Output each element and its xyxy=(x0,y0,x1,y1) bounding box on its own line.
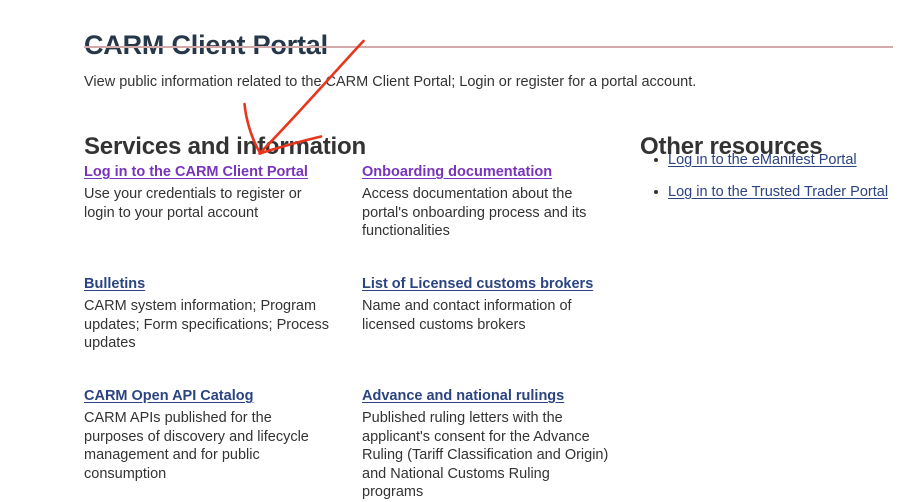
service-item-log-in-to-the-carm-client-portal: Log in to the CARM Client Portal Use you… xyxy=(84,163,334,222)
service-item-bulletins: Bulletins CARM system information; Progr… xyxy=(84,275,334,353)
other-resources-list: Log in to the eManifest Portal Log in to… xyxy=(640,150,890,214)
page-root: CARM Client Portal View public informati… xyxy=(0,0,900,486)
service-link-bulletins[interactable]: Bulletins xyxy=(84,276,145,292)
bullet-icon xyxy=(654,158,658,162)
service-link-onboarding-documentation[interactable]: Onboarding documentation xyxy=(362,164,552,180)
service-desc-list-of-licensed-customs-brokers: Name and contact information of licensed… xyxy=(362,297,612,334)
list-item: Log in to the eManifest Portal xyxy=(640,150,890,170)
services-row: Bulletins CARM system information; Progr… xyxy=(84,275,614,387)
service-item-list-of-licensed-customs-brokers: List of Licensed customs brokers Name an… xyxy=(362,275,612,334)
list-item: Log in to the Trusted Trader Portal xyxy=(640,182,890,202)
service-desc-bulletins: CARM system information; Program updates… xyxy=(84,297,334,353)
service-item-advance-and-national-rulings: Advance and national rulings Published r… xyxy=(362,387,612,502)
service-desc-log-in-to-the-carm-client-portal: Use your credentials to register or logi… xyxy=(84,185,334,222)
page-intro-text: View public information related to the C… xyxy=(84,72,874,92)
service-desc-advance-and-national-rulings: Published ruling letters with the applic… xyxy=(362,409,612,502)
service-link-carm-open-api-catalog[interactable]: CARM Open API Catalog xyxy=(84,388,253,404)
service-item-onboarding-documentation: Onboarding documentation Access document… xyxy=(362,163,612,241)
service-item-carm-open-api-catalog: CARM Open API Catalog CARM APIs publishe… xyxy=(84,387,334,483)
service-link-advance-and-national-rulings[interactable]: Advance and national rulings xyxy=(362,388,564,404)
service-link-log-in-to-the-carm-client-portal[interactable]: Log in to the CARM Client Portal xyxy=(84,164,308,180)
other-resource-link-emanifest-portal[interactable]: Log in to the eManifest Portal xyxy=(668,152,857,168)
service-link-list-of-licensed-customs-brokers[interactable]: List of Licensed customs brokers xyxy=(362,276,593,292)
other-resource-link-trusted-trader-portal[interactable]: Log in to the Trusted Trader Portal xyxy=(668,184,888,200)
service-desc-carm-open-api-catalog: CARM APIs published for the purposes of … xyxy=(84,409,334,483)
service-desc-onboarding-documentation: Access documentation about the portal's … xyxy=(362,185,612,241)
bullet-icon xyxy=(654,190,658,194)
title-divider xyxy=(84,46,893,48)
services-row: CARM Open API Catalog CARM APIs publishe… xyxy=(84,387,614,499)
services-grid: Log in to the CARM Client Portal Use you… xyxy=(84,163,614,499)
services-section-heading: Services and information xyxy=(84,132,366,162)
services-row: Log in to the CARM Client Portal Use you… xyxy=(84,163,614,275)
